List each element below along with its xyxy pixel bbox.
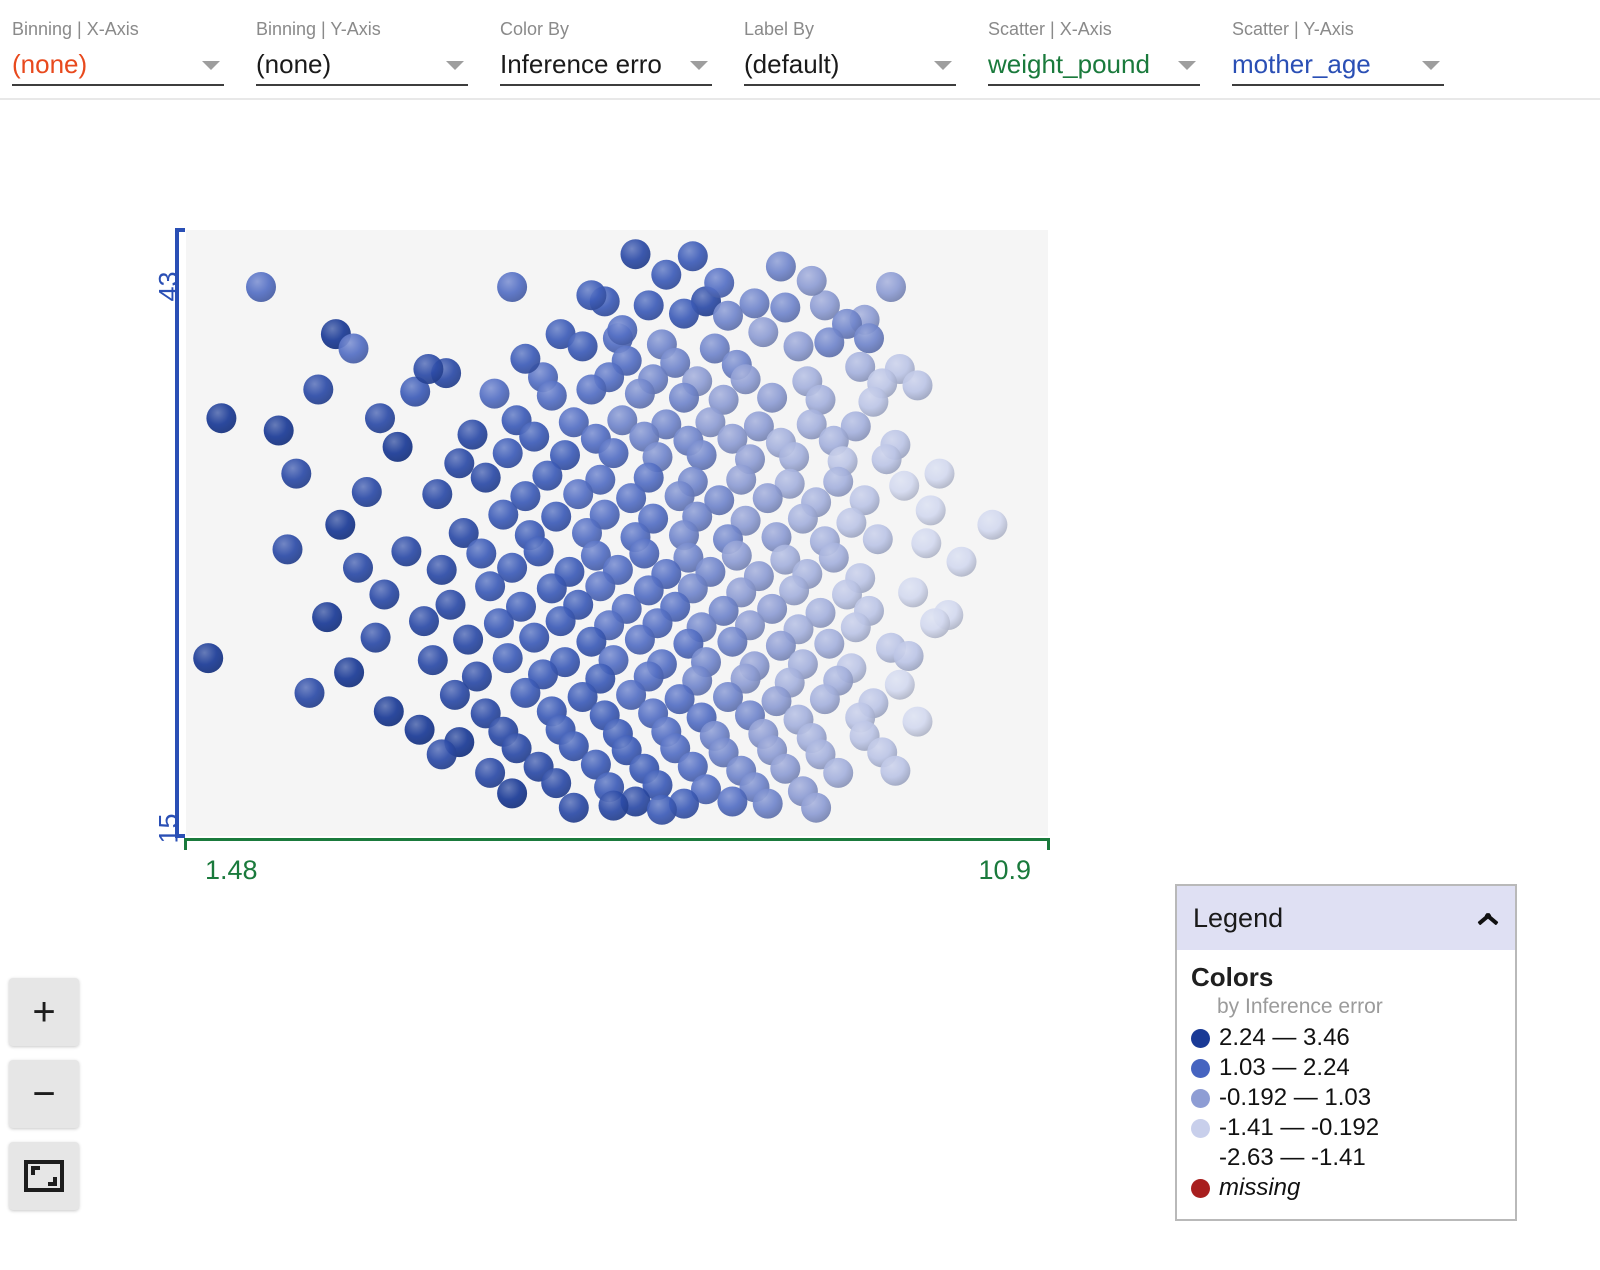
- legend-title: Legend: [1193, 903, 1283, 934]
- scatter-point[interactable]: [889, 471, 919, 501]
- scatter-point[interactable]: [427, 739, 457, 769]
- scatter-point[interactable]: [669, 299, 699, 329]
- scatter-point[interactable]: [466, 539, 496, 569]
- legend-entries: 2.24 — 3.461.03 — 2.24-0.192 — 1.03-1.41…: [1191, 1023, 1501, 1203]
- legend-entry[interactable]: -0.192 — 1.03: [1191, 1083, 1501, 1113]
- scatter-point[interactable]: [836, 508, 866, 538]
- scatter-point[interactable]: [361, 623, 391, 653]
- scatter-point[interactable]: [436, 590, 466, 620]
- scatter-point[interactable]: [757, 383, 787, 413]
- scatter-point[interactable]: [823, 758, 853, 788]
- legend-color-swatch: [1191, 1179, 1210, 1198]
- scatter-point[interactable]: [704, 268, 734, 298]
- scatter-point[interactable]: [629, 539, 659, 569]
- scatter-point[interactable]: [493, 643, 523, 673]
- scatter-point[interactable]: [717, 627, 747, 657]
- legend-subtitle: by Inference error: [1217, 995, 1501, 1019]
- scatter-point[interactable]: [625, 379, 655, 409]
- scatter-point[interactable]: [616, 483, 646, 513]
- scatter-point[interactable]: [497, 272, 527, 302]
- minus-icon: −: [32, 1074, 55, 1114]
- scatter-point[interactable]: [546, 606, 576, 636]
- fit-to-view-icon: [24, 1160, 64, 1192]
- x-axis: 1.48 10.9: [184, 838, 1050, 850]
- scatter-point[interactable]: [731, 364, 761, 394]
- chevron-down-icon[interactable]: [202, 61, 220, 70]
- scatter-point[interactable]: [471, 463, 501, 493]
- scatter-point[interactable]: [440, 680, 470, 710]
- legend-color-swatch: [1191, 1119, 1210, 1138]
- scatter-point[interactable]: [559, 793, 589, 823]
- scatter-point[interactable]: [484, 608, 514, 638]
- scatter-point[interactable]: [740, 288, 770, 318]
- legend-entry-label: -1.41 — -0.192: [1219, 1114, 1379, 1142]
- scatter-point[interactable]: [713, 301, 743, 331]
- scatter-point[interactable]: [480, 379, 510, 409]
- legend-color-swatch: [1191, 1059, 1210, 1078]
- legend-entry[interactable]: -2.63 — -1.41: [1191, 1143, 1501, 1173]
- dropdown-scatter-y-axis[interactable]: Scatter | Y-Axismother_age: [1232, 18, 1444, 86]
- dropdown-label-by[interactable]: Label By(default): [744, 18, 956, 86]
- dropdown-scatter-x-axis[interactable]: Scatter | X-Axisweight_pound: [988, 18, 1200, 86]
- dropdown-value: (default): [744, 46, 922, 82]
- plus-icon: +: [32, 992, 55, 1032]
- fit-view-button[interactable]: [9, 1142, 79, 1210]
- dropdown-value: Inference erro: [500, 46, 678, 82]
- scatter-point[interactable]: [334, 657, 364, 687]
- scatter-point[interactable]: [405, 715, 435, 745]
- scatter-point[interactable]: [726, 465, 756, 495]
- legend-color-swatch: [1191, 1029, 1210, 1048]
- scatter-point[interactable]: [717, 787, 747, 817]
- scatter-point[interactable]: [647, 795, 677, 825]
- zoom-in-button[interactable]: +: [9, 978, 79, 1046]
- scatter-point[interactable]: [568, 331, 598, 361]
- scatter-point[interactable]: [418, 645, 448, 675]
- scatter-point[interactable]: [343, 553, 373, 583]
- chevron-down-icon[interactable]: [446, 61, 464, 70]
- scatter-point[interactable]: [374, 696, 404, 726]
- scatter-point[interactable]: [325, 510, 355, 540]
- y-axis: 43 15: [175, 228, 185, 838]
- scatter-point[interactable]: [475, 758, 505, 788]
- scatter-point[interactable]: [453, 625, 483, 655]
- legend-entry-label: -0.192 — 1.03: [1219, 1084, 1371, 1112]
- scatter-point[interactable]: [903, 707, 933, 737]
- scatter-point[interactable]: [537, 381, 567, 411]
- scatter-point[interactable]: [784, 331, 814, 361]
- zoom-out-button[interactable]: −: [9, 1060, 79, 1128]
- chevron-down-icon[interactable]: [1422, 61, 1440, 70]
- scatter-point[interactable]: [493, 438, 523, 468]
- scatter-point[interactable]: [779, 442, 809, 472]
- scatter-point[interactable]: [541, 502, 571, 532]
- scatter-point[interactable]: [488, 500, 518, 530]
- legend-body: Colors by Inference error 2.24 — 3.461.0…: [1177, 950, 1515, 1219]
- scatter-point[interactable]: [281, 459, 311, 489]
- scatter-point[interactable]: [916, 495, 946, 525]
- scatter-point[interactable]: [444, 448, 474, 478]
- chevron-down-icon[interactable]: [690, 61, 708, 70]
- dropdown-value: weight_pound: [988, 46, 1166, 82]
- scatter-point[interactable]: [621, 239, 651, 269]
- scatter-point[interactable]: [753, 483, 783, 513]
- dropdown-binning-x-axis[interactable]: Binning | X-Axis(none): [12, 18, 224, 86]
- scatter-point[interactable]: [823, 467, 853, 497]
- scatter-point[interactable]: [898, 577, 928, 607]
- scatter-point[interactable]: [788, 504, 818, 534]
- scatter-point[interactable]: [576, 280, 606, 310]
- dropdown-label: Label By: [744, 18, 956, 40]
- legend-entry[interactable]: 1.03 — 2.24: [1191, 1053, 1501, 1083]
- scatter-point[interactable]: [519, 422, 549, 452]
- dropdown-label: Scatter | X-Axis: [988, 18, 1200, 40]
- legend-entry[interactable]: missing: [1191, 1173, 1501, 1203]
- scatter-point[interactable]: [312, 602, 342, 632]
- scatter-point[interactable]: [510, 344, 540, 374]
- scatter-plot-canvas[interactable]: [186, 230, 1048, 836]
- x-axis-tick-min: 1.48: [205, 855, 258, 886]
- scatter-point[interactable]: [193, 643, 223, 673]
- dropdown-label: Binning | Y-Axis: [256, 18, 468, 40]
- legend-entry[interactable]: -1.41 — -0.192: [1191, 1113, 1501, 1143]
- scatter-point[interactable]: [541, 768, 571, 798]
- dropdown-value: (none): [256, 46, 434, 82]
- scatter-point[interactable]: [497, 778, 527, 808]
- y-axis-tick-max: 43: [154, 272, 185, 302]
- scatter-point[interactable]: [819, 543, 849, 573]
- scatter-point[interactable]: [854, 323, 884, 353]
- scatter-point[interactable]: [519, 623, 549, 653]
- scatter-point[interactable]: [206, 403, 236, 433]
- dropdown-control[interactable]: (none): [12, 46, 224, 86]
- scatter-point[interactable]: [687, 440, 717, 470]
- dropdown-label: Color By: [500, 18, 712, 40]
- scatter-point[interactable]: [475, 571, 505, 601]
- scatter-point[interactable]: [537, 573, 567, 603]
- scatter-point[interactable]: [872, 444, 902, 474]
- scatter-point[interactable]: [722, 541, 752, 571]
- dropdown-binning-y-axis[interactable]: Binning | Y-Axis(none): [256, 18, 468, 86]
- y-axis-tick-min: 15: [154, 814, 185, 844]
- x-axis-tick-max: 10.9: [978, 855, 1031, 886]
- scatter-point[interactable]: [352, 477, 382, 507]
- legend-header[interactable]: Legend: [1177, 886, 1515, 950]
- scatter-point[interactable]: [365, 403, 395, 433]
- scatter-point[interactable]: [766, 252, 796, 282]
- scatter-point[interactable]: [863, 524, 893, 554]
- scatter-point[interactable]: [391, 536, 421, 566]
- scatter-point[interactable]: [510, 678, 540, 708]
- scatter-point[interactable]: [858, 387, 888, 417]
- scatter-point[interactable]: [894, 641, 924, 671]
- dropdown-value: (none): [12, 46, 190, 82]
- scatter-point[interactable]: [369, 580, 399, 610]
- scatter-point[interactable]: [576, 375, 606, 405]
- scatter-point[interactable]: [797, 266, 827, 296]
- scatter-point[interactable]: [246, 272, 276, 302]
- dropdown-label: Binning | X-Axis: [12, 18, 224, 40]
- legend-color-swatch: [1191, 1089, 1210, 1108]
- scatter-point[interactable]: [273, 534, 303, 564]
- dropdown-control[interactable]: mother_age: [1232, 46, 1444, 86]
- scatter-point[interactable]: [524, 536, 554, 566]
- scatter-point[interactable]: [880, 756, 910, 786]
- chevron-down-icon[interactable]: [934, 61, 952, 70]
- scatter-point[interactable]: [753, 789, 783, 819]
- scatter-point[interactable]: [669, 383, 699, 413]
- scatter-point[interactable]: [814, 629, 844, 659]
- scatter-point[interactable]: [599, 438, 629, 468]
- legend-entry-label: -2.63 — -1.41: [1219, 1144, 1366, 1172]
- dropdown-label: Scatter | Y-Axis: [1232, 18, 1444, 40]
- scatter-point[interactable]: [876, 272, 906, 302]
- scatter-point[interactable]: [977, 510, 1007, 540]
- chevron-up-icon[interactable]: [1477, 912, 1499, 925]
- dropdown-control[interactable]: (default): [744, 46, 956, 86]
- scatter-point[interactable]: [458, 420, 488, 450]
- dropdown-value: mother_age: [1232, 46, 1410, 82]
- dropdown-color-by[interactable]: Color ByInference erro: [500, 18, 712, 86]
- dropdown-control[interactable]: weight_pound: [988, 46, 1200, 86]
- legend-panel: Legend Colors by Inference error 2.24 — …: [1175, 884, 1517, 1221]
- legend-entry[interactable]: 2.24 — 3.46: [1191, 1023, 1501, 1053]
- scatter-point[interactable]: [427, 555, 457, 585]
- legend-section-title: Colors: [1191, 962, 1501, 993]
- scatter-point[interactable]: [810, 684, 840, 714]
- scatter-point[interactable]: [885, 670, 915, 700]
- legend-color-swatch: [1191, 1149, 1210, 1168]
- scatter-point[interactable]: [264, 416, 294, 446]
- scatter-point[interactable]: [303, 375, 333, 405]
- scatter-point[interactable]: [770, 293, 800, 323]
- dropdown-control[interactable]: (none): [256, 46, 468, 86]
- scatter-point[interactable]: [678, 241, 708, 271]
- scatter-point[interactable]: [409, 606, 439, 636]
- scatter-point[interactable]: [947, 547, 977, 577]
- scatter-point[interactable]: [607, 315, 637, 345]
- dropdown-control[interactable]: Inference erro: [500, 46, 712, 86]
- legend-entry-label: 2.24 — 3.46: [1219, 1024, 1350, 1052]
- scatter-point[interactable]: [814, 327, 844, 357]
- legend-entry-label: missing: [1219, 1174, 1300, 1202]
- scatter-point[interactable]: [625, 625, 655, 655]
- scatter-point[interactable]: [422, 479, 452, 509]
- toolbar: Binning | X-Axis(none)Binning | Y-Axis(n…: [0, 0, 1600, 100]
- scatter-points-layer: [186, 230, 1048, 836]
- scatter-point[interactable]: [651, 260, 681, 290]
- scatter-point[interactable]: [920, 608, 950, 638]
- zoom-controls: +−: [9, 978, 79, 1224]
- scatter-point[interactable]: [563, 479, 593, 509]
- scatter-point[interactable]: [748, 317, 778, 347]
- scatter-point[interactable]: [413, 354, 443, 384]
- scatter-point[interactable]: [295, 678, 325, 708]
- scatter-point[interactable]: [841, 612, 871, 642]
- scatter-point[interactable]: [903, 370, 933, 400]
- scatter-point[interactable]: [925, 459, 955, 489]
- scatter-point[interactable]: [532, 461, 562, 491]
- legend-entry-label: 1.03 — 2.24: [1219, 1054, 1350, 1082]
- scatter-point[interactable]: [383, 432, 413, 462]
- scatter-point[interactable]: [911, 528, 941, 558]
- scatter-point[interactable]: [339, 334, 369, 364]
- scatter-point[interactable]: [634, 290, 664, 320]
- scatter-point[interactable]: [801, 793, 831, 823]
- scatter-point[interactable]: [599, 791, 629, 821]
- chevron-down-icon[interactable]: [1178, 61, 1196, 70]
